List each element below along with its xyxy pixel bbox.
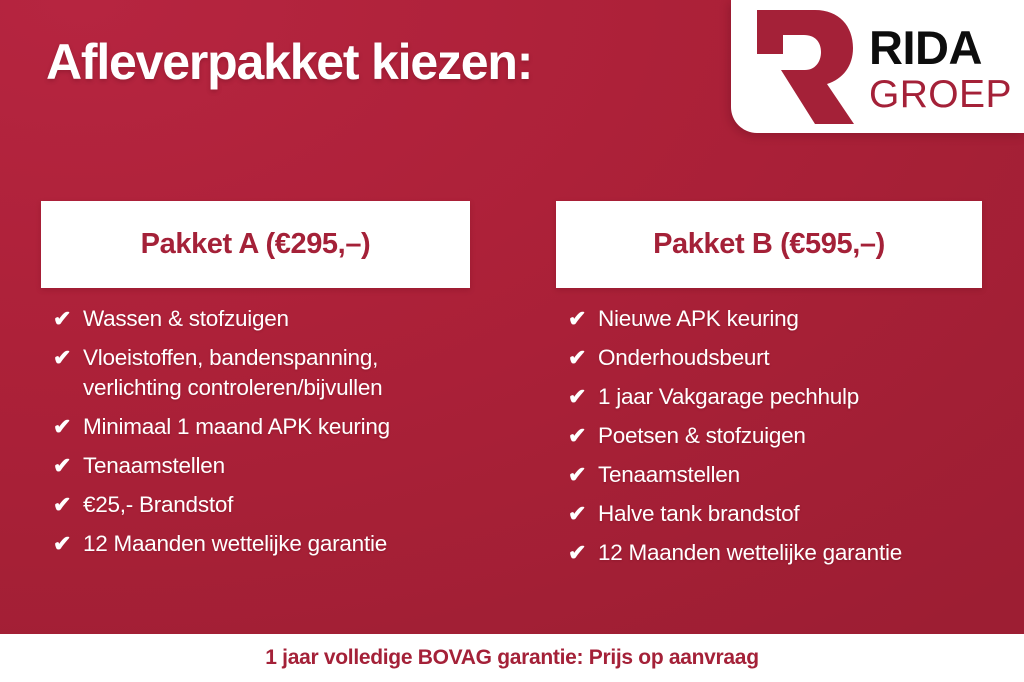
package-a-header: Pakket A (€295,–) — [41, 201, 470, 288]
feature-label: Halve tank brandstof — [598, 499, 799, 529]
check-icon: ✔ — [53, 304, 83, 334]
list-item: ✔ Tenaamstellen — [53, 451, 470, 481]
footer-banner: 1 jaar volledige BOVAG garantie: Prijs o… — [0, 634, 1024, 682]
feature-label: Onderhoudsbeurt — [598, 343, 769, 373]
check-icon: ✔ — [568, 382, 598, 412]
check-icon: ✔ — [53, 529, 83, 559]
list-item: ✔ 12 Maanden wettelijke garantie — [568, 538, 982, 568]
check-icon: ✔ — [568, 460, 598, 490]
feature-label: €25,- Brandstof — [83, 490, 233, 520]
package-b-header: Pakket B (€595,–) — [556, 201, 982, 288]
rida-r-mark-icon — [753, 8, 855, 126]
list-item: ✔ Tenaamstellen — [568, 460, 982, 490]
page-title: Afleverpakket kiezen: — [46, 33, 532, 91]
check-icon: ✔ — [568, 304, 598, 334]
list-item: ✔ €25,- Brandstof — [53, 490, 470, 520]
footer-guarantee-text: 1 jaar volledige BOVAG garantie: Prijs o… — [265, 646, 758, 670]
package-card-a[interactable]: Pakket A (€295,–) ✔ Wassen & stofzuigen … — [41, 201, 470, 577]
list-item: ✔ Wassen & stofzuigen — [53, 304, 470, 334]
brand-name-primary: RIDA — [869, 24, 1012, 71]
list-item: ✔ 12 Maanden wettelijke garantie — [53, 529, 470, 559]
package-b-feature-list: ✔ Nieuwe APK keuring ✔ Onderhoudsbeurt ✔… — [556, 304, 982, 577]
brand-logo-plate: RIDA GROEP — [731, 0, 1024, 133]
check-icon: ✔ — [53, 490, 83, 520]
check-icon: ✔ — [53, 451, 83, 481]
feature-label: Poetsen & stofzuigen — [598, 421, 806, 451]
list-item: ✔ Halve tank brandstof — [568, 499, 982, 529]
package-a-feature-list: ✔ Wassen & stofzuigen ✔ Vloeistoffen, ba… — [41, 304, 470, 568]
brand-name-secondary: GROEP — [869, 75, 1012, 114]
package-columns: Pakket A (€295,–) ✔ Wassen & stofzuigen … — [0, 201, 1024, 577]
list-item: ✔ Minimaal 1 maand APK keuring — [53, 412, 470, 442]
poster-canvas: Afleverpakket kiezen: RIDA GROEP Pakket … — [0, 0, 1024, 682]
check-icon: ✔ — [568, 421, 598, 451]
feature-label: 1 jaar Vakgarage pechhulp — [598, 382, 859, 412]
package-a-title: Pakket A (€295,–) — [141, 228, 371, 261]
check-icon: ✔ — [53, 343, 83, 373]
feature-label: Tenaamstellen — [83, 451, 225, 481]
list-item: ✔ Poetsen & stofzuigen — [568, 421, 982, 451]
list-item: ✔ 1 jaar Vakgarage pechhulp — [568, 382, 982, 412]
feature-label: Tenaamstellen — [598, 460, 740, 490]
feature-label: Vloeistoffen, bandenspanning, verlichtin… — [83, 343, 470, 403]
check-icon: ✔ — [568, 343, 598, 373]
feature-label: Nieuwe APK keuring — [598, 304, 799, 334]
list-item: ✔ Onderhoudsbeurt — [568, 343, 982, 373]
package-card-b[interactable]: Pakket B (€595,–) ✔ Nieuwe APK keuring ✔… — [556, 201, 982, 577]
feature-label: 12 Maanden wettelijke garantie — [598, 538, 902, 568]
check-icon: ✔ — [568, 538, 598, 568]
feature-label: Minimaal 1 maand APK keuring — [83, 412, 390, 442]
list-item: ✔ Nieuwe APK keuring — [568, 304, 982, 334]
check-icon: ✔ — [53, 412, 83, 442]
brand-wordmark: RIDA GROEP — [869, 20, 1012, 114]
feature-label: 12 Maanden wettelijke garantie — [83, 529, 387, 559]
list-item: ✔ Vloeistoffen, bandenspanning, verlicht… — [53, 343, 470, 403]
package-b-title: Pakket B (€595,–) — [653, 228, 885, 261]
check-icon: ✔ — [568, 499, 598, 529]
feature-label: Wassen & stofzuigen — [83, 304, 289, 334]
